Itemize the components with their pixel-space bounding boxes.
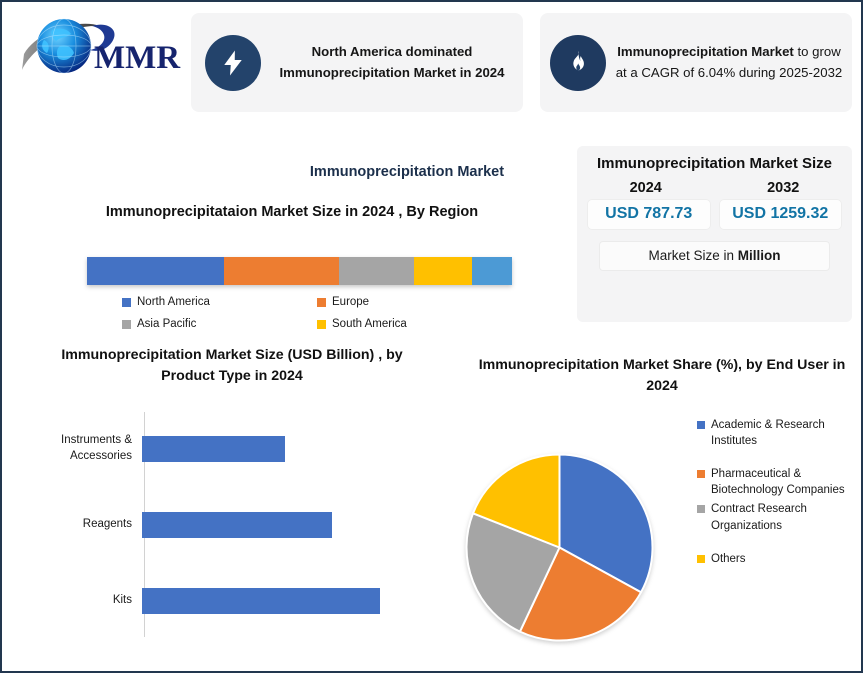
- end-user-pie-chart: [462, 450, 657, 645]
- region-segment-middle-east-africa: [472, 257, 512, 285]
- product-type-row: Kits: [22, 571, 422, 631]
- end-user-legend-label: Contract Research Organizations: [711, 501, 857, 534]
- legend-swatch-icon: [122, 298, 131, 307]
- svg-text:MMR: MMR: [94, 40, 181, 76]
- market-size-year-end: 2032: [715, 180, 853, 196]
- legend-swatch-icon: [317, 298, 326, 307]
- end-user-legend-label: Academic & Research Institutes: [711, 417, 857, 450]
- market-size-years: 2024 2032: [577, 180, 852, 196]
- header: MMR North America dominated Immunoprecip…: [2, 2, 863, 124]
- legend-swatch-icon: [697, 421, 705, 429]
- market-size-title: Immunoprecipitation Market Size: [577, 146, 852, 174]
- product-type-label: Reagents: [22, 517, 142, 533]
- flame-icon: [550, 35, 606, 91]
- region-segment-europe: [224, 257, 339, 285]
- region-legend-item: South America: [317, 314, 512, 336]
- end-user-chart-title: Immunoprecipitation Market Share (%), by…: [472, 355, 852, 398]
- end-user-legend: Academic & Research InstitutesPharmaceut…: [697, 417, 857, 567]
- market-size-unit: Market Size in Million: [599, 241, 830, 271]
- product-type-bar: [142, 512, 332, 538]
- product-type-row: Instruments & Accessories: [22, 419, 422, 479]
- mmr-logo: MMR: [16, 8, 186, 88]
- product-type-chart: Instruments & AccessoriesReagentsKits: [22, 407, 422, 642]
- legend-swatch-icon: [122, 320, 131, 329]
- region-legend-label: North America: [137, 292, 210, 314]
- product-type-bar: [142, 436, 285, 462]
- market-size-panel: Immunoprecipitation Market Size 2024 203…: [577, 146, 852, 322]
- end-user-legend-item: Contract Research Organizations: [697, 501, 857, 534]
- region-segment-south-america: [414, 257, 472, 285]
- header-card-cagr: Immunoprecipitation Market to grow at a …: [540, 13, 852, 112]
- region-segment-asia-pacific: [339, 257, 414, 285]
- region-legend-item: Asia Pacific: [122, 314, 317, 336]
- end-user-legend-label: Others: [711, 551, 746, 567]
- region-heading: Immunoprecipitation Market: [257, 164, 557, 180]
- market-size-values: USD 787.73 USD 1259.32: [577, 199, 852, 230]
- region-legend-label: Asia Pacific: [137, 314, 196, 336]
- product-type-row: Reagents: [22, 495, 422, 555]
- legend-swatch-icon: [697, 470, 705, 478]
- header-card-north-america-text: North America dominated Immunoprecipitat…: [261, 42, 523, 83]
- header-card-cagr-text: Immunoprecipitation Market to grow at a …: [606, 42, 852, 83]
- infographic-page: MMR North America dominated Immunoprecip…: [0, 0, 863, 673]
- product-type-label: Instruments & Accessories: [22, 433, 142, 464]
- legend-swatch-icon: [697, 555, 705, 563]
- end-user-legend-item: Others: [697, 551, 857, 567]
- product-type-chart-title: Immunoprecipitation Market Size (USD Bil…: [57, 345, 407, 388]
- region-legend-label: South America: [332, 314, 407, 336]
- market-size-unit-bold: Million: [738, 248, 781, 263]
- region-stacked-bar: [87, 257, 512, 285]
- market-size-unit-prefix: Market Size in: [648, 248, 737, 263]
- end-user-legend-item: Pharmaceutical & Biotechnology Companies: [697, 466, 857, 499]
- end-user-legend-label: Pharmaceutical & Biotechnology Companies: [711, 466, 857, 499]
- region-chart-title: Immunoprecipitataion Market Size in 2024…: [82, 202, 502, 223]
- product-type-label: Kits: [22, 593, 142, 609]
- market-size-year-start: 2024: [577, 180, 715, 196]
- end-user-legend-item: Academic & Research Institutes: [697, 417, 857, 450]
- lightning-bolt-icon: [205, 35, 261, 91]
- header-card-north-america: North America dominated Immunoprecipitat…: [191, 13, 523, 112]
- region-legend: North AmericaEuropeAsia PacificSouth Ame…: [122, 292, 512, 336]
- legend-swatch-icon: [697, 505, 705, 513]
- region-legend-label: Europe: [332, 292, 369, 314]
- region-legend-item: Europe: [317, 292, 512, 314]
- legend-swatch-icon: [317, 320, 326, 329]
- region-legend-item: North America: [122, 292, 317, 314]
- region-segment-north-america: [87, 257, 224, 285]
- market-size-value-start: USD 787.73: [587, 199, 711, 230]
- product-type-bar: [142, 588, 380, 614]
- market-size-value-end: USD 1259.32: [719, 199, 843, 230]
- header-card-cagr-bold: Immunoprecipitation Market: [617, 44, 794, 59]
